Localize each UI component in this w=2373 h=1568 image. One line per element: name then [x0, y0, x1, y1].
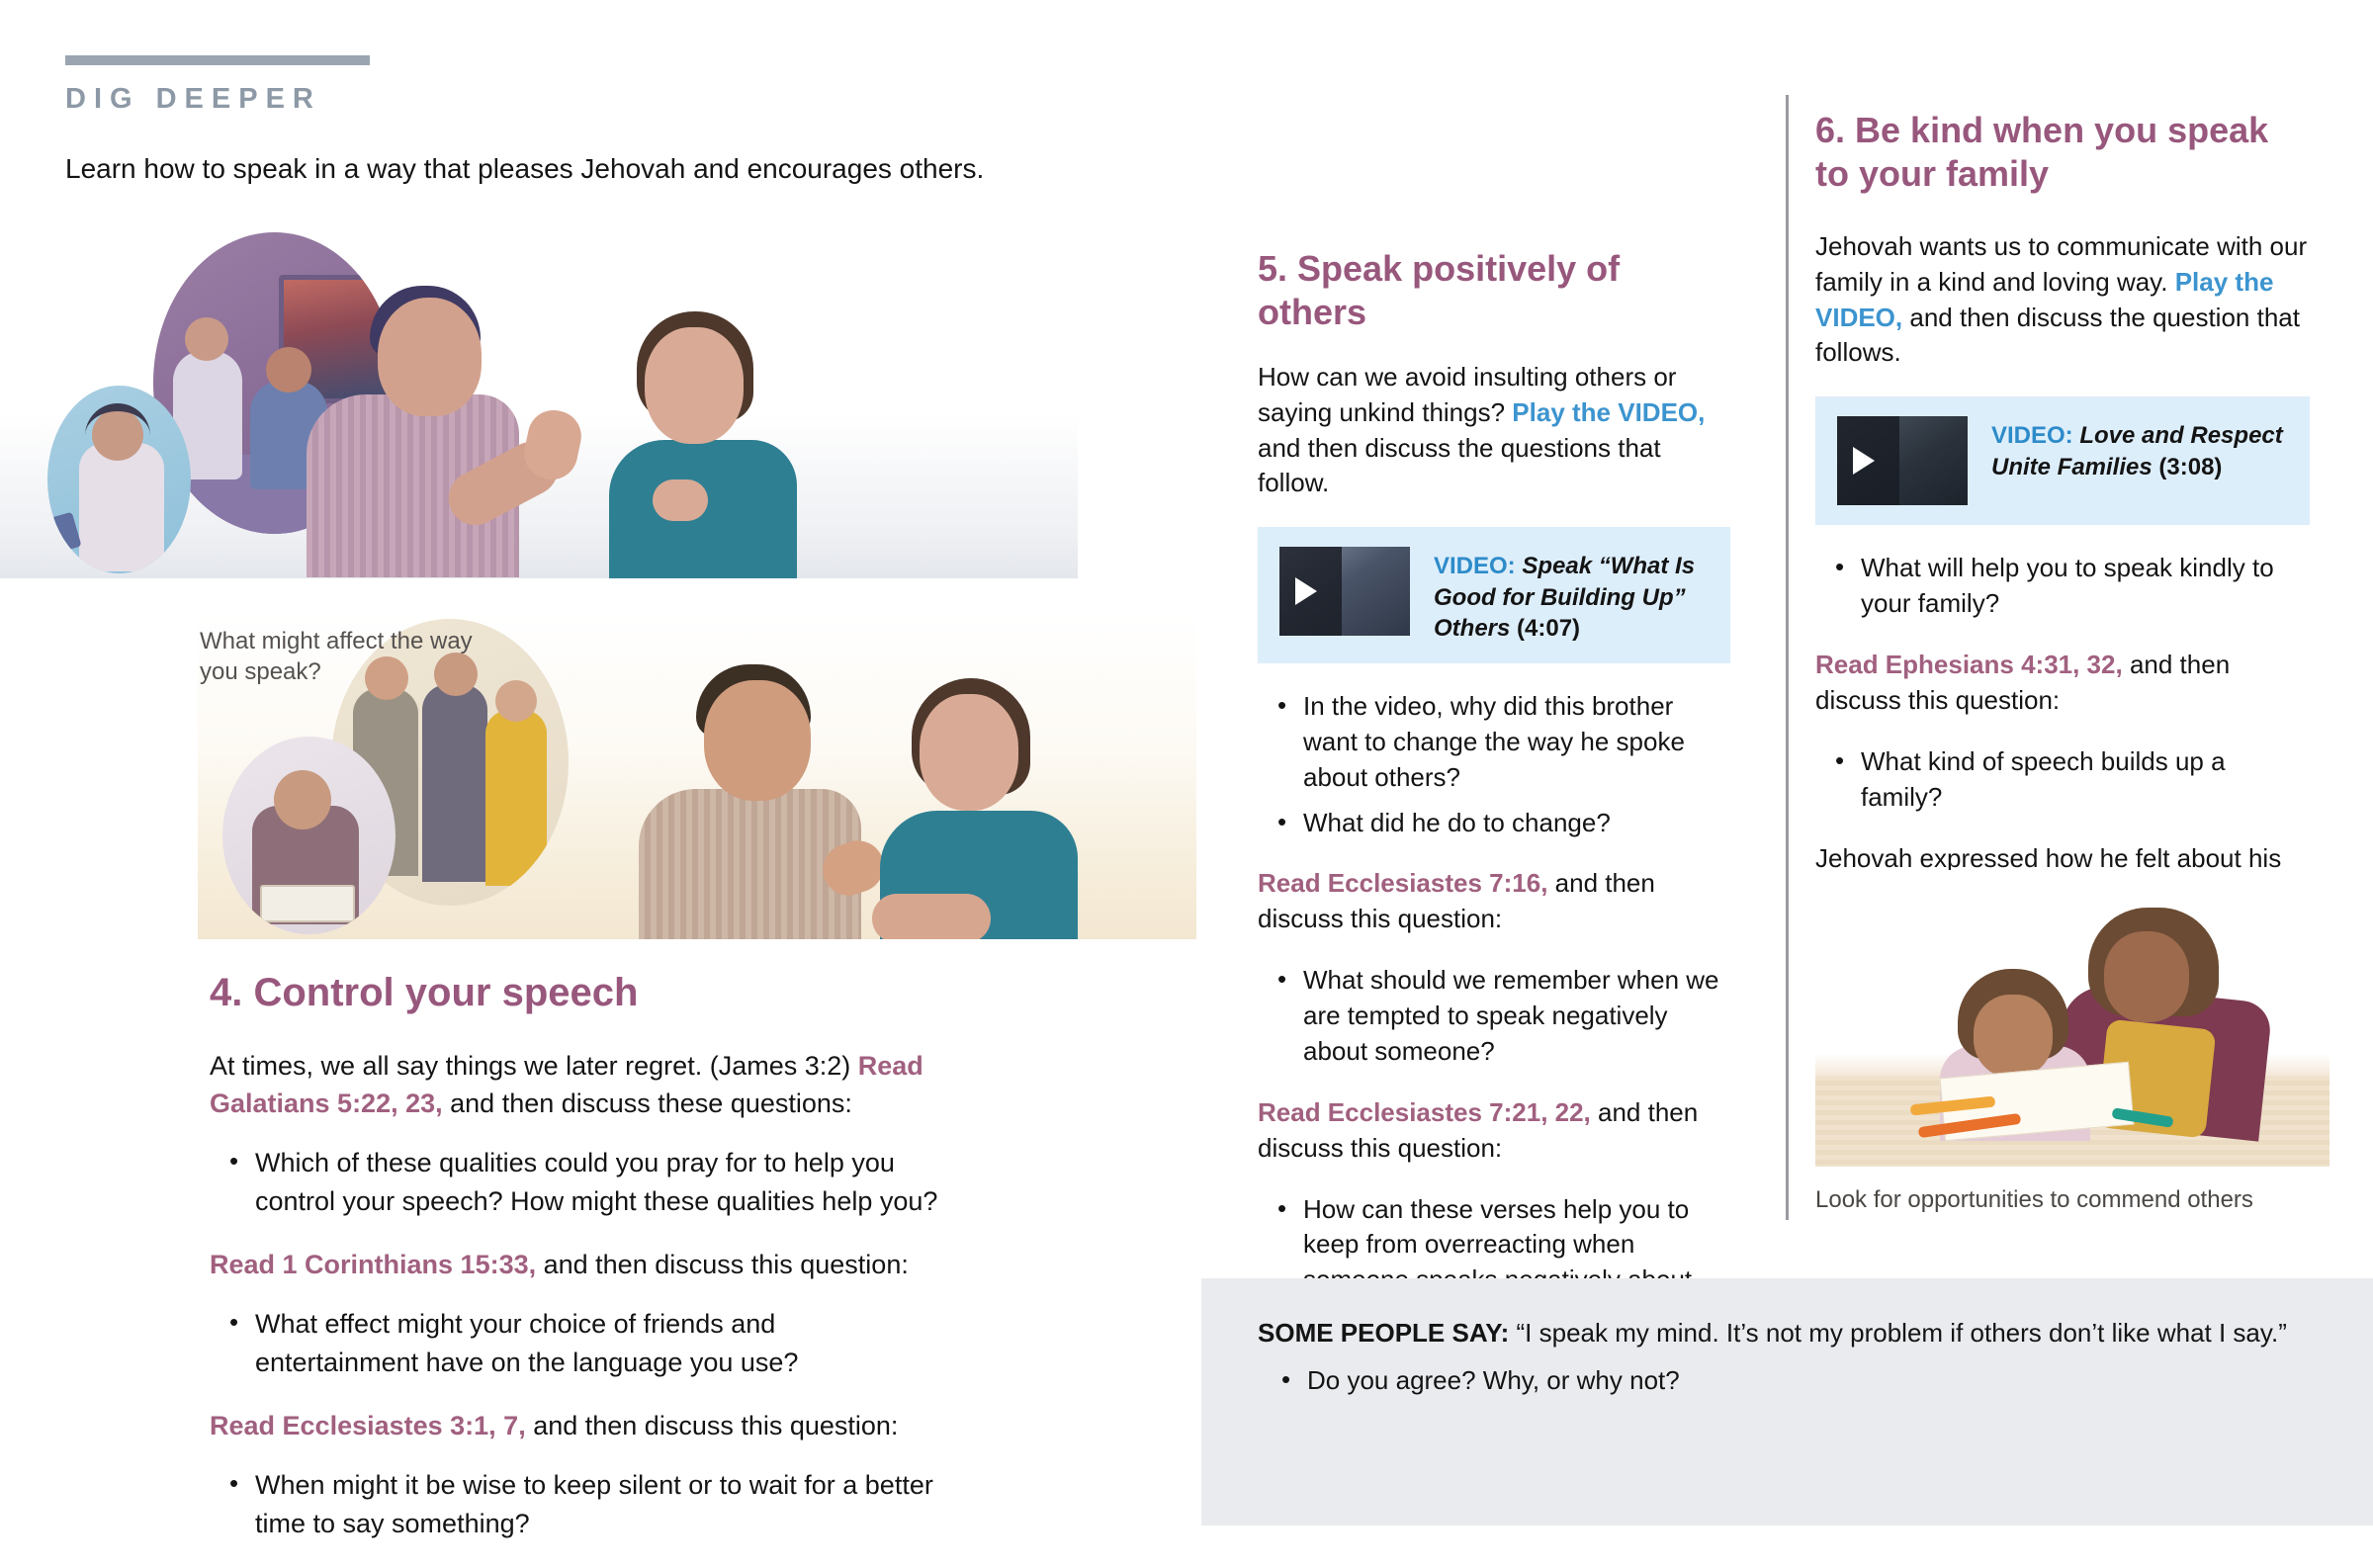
caption-what-might-affect: What might affect the way you speak?: [200, 627, 477, 687]
list-item: Do you agree? Why, or why not?: [1307, 1362, 2335, 1398]
list-item: When might it be wise to keep silent or …: [255, 1466, 941, 1542]
s5-scripture-ref-ecc-721[interactable]: Read Ecclesiastes 7:21, 22,: [1258, 1097, 1591, 1127]
listener-body: [79, 443, 164, 571]
s4-p2-text-b: and then discuss this question:: [536, 1250, 909, 1279]
book-shape: [260, 885, 355, 922]
section-4-questions-1: Which of these qualities could you pray …: [210, 1144, 941, 1220]
upset-woman-figure: [593, 302, 811, 573]
section-5-questions-1: In the video, why did this brother want …: [1258, 689, 1730, 841]
person-2: [422, 684, 487, 882]
list-item: What effect might your choice of friends…: [255, 1305, 941, 1381]
section-4-heading: 4. Control your speech: [210, 969, 941, 1017]
video-thumbnail[interactable]: [1837, 416, 1968, 505]
column-divider: [1786, 95, 1789, 1220]
list-item: In the video, why did this brother want …: [1303, 689, 1730, 796]
angry-man-figure: [297, 274, 544, 570]
list-item: What should we remember when we are temp…: [1303, 963, 1730, 1070]
caption-commend-others: Look for opportunities to commend others: [1815, 1186, 2329, 1214]
list-item: What did he do to change?: [1303, 806, 1730, 841]
section-5-questions-2: What should we remember when we are temp…: [1258, 963, 1730, 1070]
section-6-paragraph-2: Read Ephesians 4:31, 32, and then discus…: [1815, 648, 2310, 719]
section-5-paragraph-2: Read Ecclesiastes 7:16, and then discuss…: [1258, 866, 1730, 937]
section-4: 4. Control your speech At times, we all …: [210, 969, 941, 1568]
some-people-say-text: SOME PEOPLE SAY: “I speak my mind. It’s …: [1258, 1315, 2306, 1350]
list-item: Which of these qualities could you pray …: [255, 1144, 941, 1220]
s4-p1-text-a: At times, we all say things we later reg…: [210, 1051, 858, 1081]
video-duration: (4:07): [1517, 615, 1580, 642]
inset-headphones-phone-icon: [47, 386, 191, 573]
dig-deeper-rule: [65, 55, 370, 65]
illustration-mother-and-child: [1815, 870, 2329, 1167]
section-4-paragraph-3: Read Ecclesiastes 3:1, 7, and then discu…: [210, 1407, 941, 1444]
person-3: [485, 710, 547, 886]
video-card-love-and-respect[interactable]: VIDEO: Love and Respect Unite Families (…: [1815, 396, 2310, 525]
section-4-paragraph-1: At times, we all say things we later reg…: [210, 1047, 941, 1123]
section-6-heading: 6. Be kind when you speak to your family: [1815, 109, 2310, 196]
video-caption: VIDEO: Speak “What Is Good for Building …: [1434, 547, 1709, 644]
s5-scripture-ref-ecc-716[interactable]: Read Ecclesiastes 7:16,: [1258, 868, 1547, 898]
section-5: 5. Speak positively of others How can we…: [1258, 247, 1730, 1359]
s4-scripture-ref-corinthians[interactable]: Read 1 Corinthians 15:33,: [210, 1250, 536, 1279]
video-label: VIDEO:: [1991, 422, 2073, 449]
some-people-say-label: SOME PEOPLE SAY:: [1258, 1318, 1509, 1348]
some-people-say-questions: Do you agree? Why, or why not?: [1281, 1362, 2335, 1398]
video-card-speak-what-is-good[interactable]: VIDEO: Speak “What Is Good for Building …: [1258, 527, 1730, 663]
list-item: What kind of speech builds up a family?: [1861, 744, 2310, 816]
section-5-heading: 5. Speak positively of others: [1258, 247, 1730, 334]
s5-play-video-link[interactable]: Play the VIDEO,: [1512, 397, 1705, 427]
s4-scripture-ref-ecclesiastes[interactable]: Read Ecclesiastes 3:1, 7,: [210, 1411, 526, 1440]
video-duration: (3:08): [2158, 454, 2222, 480]
s4-p3-text-b: and then discuss this question:: [526, 1411, 899, 1440]
some-people-say-quote: “I speak my mind. It’s not my problem if…: [1509, 1318, 2287, 1348]
section-5-paragraph-1: How can we avoid insulting others or say…: [1258, 360, 1730, 502]
list-item: What will help you to speak kindly to yo…: [1861, 551, 2310, 622]
intro-paragraph: Learn how to speak in a way that pleases…: [65, 150, 1113, 188]
play-icon[interactable]: [1853, 447, 1875, 475]
play-icon[interactable]: [1295, 577, 1317, 605]
section-6-questions-2: What kind of speech builds up a family?: [1815, 744, 2310, 816]
section-4-questions-2: What effect might your choice of friends…: [210, 1305, 941, 1381]
section-6-questions-1: What will help you to speak kindly to yo…: [1815, 551, 2310, 622]
kind-man-figure: [633, 641, 890, 937]
dig-deeper-kicker: DIG DEEPER: [65, 83, 321, 116]
listening-woman-figure: [862, 660, 1095, 939]
section-5-paragraph-3: Read Ecclesiastes 7:21, 22, and then dis…: [1258, 1095, 1730, 1167]
s4-p1-text-b: and then discuss these questions:: [443, 1089, 852, 1118]
headphones-shape: [85, 403, 150, 441]
video-label: VIDEO:: [1434, 553, 1516, 579]
inset-bible-reading-icon: [222, 737, 395, 934]
video-thumbnail[interactable]: [1279, 547, 1410, 636]
section-6-paragraph-1: Jehovah wants us to communicate with our…: [1815, 229, 2310, 372]
video-caption: VIDEO: Love and Respect Unite Families (…: [1991, 416, 2288, 481]
page: DIG DEEPER Learn how to speak in a way t…: [0, 0, 2373, 1525]
section-4-questions-3: When might it be wise to keep silent or …: [210, 1466, 941, 1542]
reader-head: [274, 770, 331, 829]
s5-p1-text-b: and then discuss the questions that foll…: [1258, 433, 1661, 498]
s6-scripture-ref-ephesians[interactable]: Read Ephesians 4:31, 32,: [1815, 650, 2123, 679]
section-4-paragraph-2: Read 1 Corinthians 15:33, and then discu…: [210, 1246, 941, 1283]
illustration-arguing-couple: [0, 213, 1078, 578]
